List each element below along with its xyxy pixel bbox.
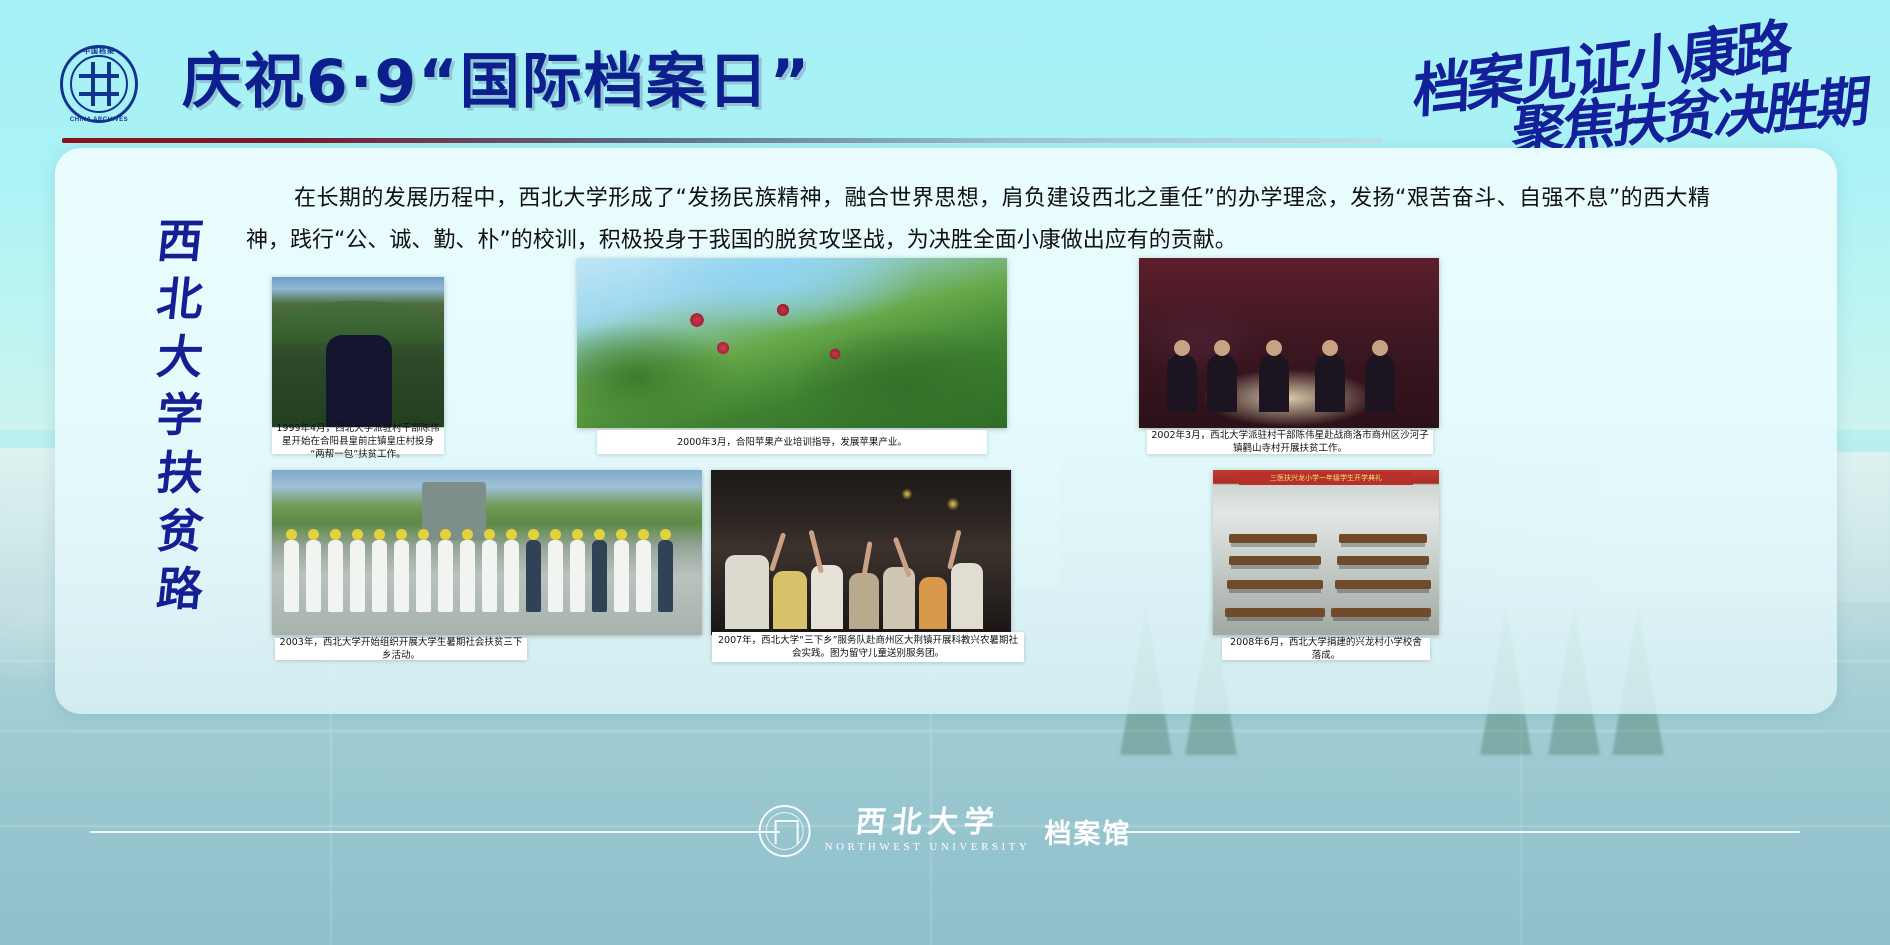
emblem-bottom-text: CHINA ARCHIVES [63, 117, 135, 123]
vtitle-char-4: 扶 [129, 444, 231, 502]
poster-canvas: 中国档案 CHINA ARCHIVES 庆祝6·9“国际档案日” 档案见证小康路… [0, 0, 1890, 945]
classroom-banner-text: 三医扶兴龙小学一年级学生开学典礼 [1239, 472, 1413, 485]
photo-2008-xinglong-school: 三医扶兴龙小学一年级学生开学典礼 [1213, 470, 1439, 635]
vertical-brush-title: 西 北 大 学 扶 贫 路 [132, 212, 228, 632]
emblem-glyph [79, 62, 119, 106]
university-seal-icon [759, 805, 811, 857]
page-title: 庆祝6·9“国际档案日” [182, 52, 811, 112]
poster-header: 中国档案 CHINA ARCHIVES 庆祝6·9“国际档案日” 档案见证小康路… [0, 0, 1890, 150]
calligraphy-slogan: 档案见证小康路 聚焦扶贫决胜期 [1402, 14, 1872, 144]
photo-caption-6: 2008年6月，西北大学捐建的兴龙村小学校舍落成。 [1222, 638, 1430, 660]
vtitle-char-2: 大 [129, 328, 231, 386]
intro-paragraph-text: 在长期的发展历程中，西北大学形成了“发扬民族精神，融合世界思想，肩负建设西北之重… [246, 178, 1710, 262]
intro-paragraph: 在长期的发展历程中，西北大学形成了“发扬民族精神，融合世界思想，肩负建设西北之重… [246, 178, 1710, 262]
photo-2007-sanxiaxiang [711, 470, 1011, 635]
photo-2002-shangluo-fupin [1139, 258, 1439, 428]
photo-2000-apple-industry [577, 258, 1007, 428]
photo-caption-4: 2003年，西北大学开始组织开展大学生暑期社会扶贫三下乡活动。 [275, 638, 527, 660]
university-name-cn: 西北大学 [854, 807, 1001, 839]
photo-caption-5: 2007年，西北大学“三下乡”服务队赴商州区大荆镇开展科教兴农暑期社会实践。图为… [712, 632, 1024, 662]
vtitle-char-3: 学 [129, 386, 231, 444]
footer-rule-left [90, 831, 780, 833]
vtitle-char-6: 路 [129, 560, 231, 618]
photo-2003-summer-practice [272, 470, 702, 635]
poster-footer: 西北大学 NORTHWEST UNIVERSITY 档案馆 [0, 795, 1890, 945]
photo-1999-village-cadre [272, 277, 444, 427]
archive-label: 档案馆 [1044, 812, 1131, 851]
footer-logo-group: 西北大学 NORTHWEST UNIVERSITY 档案馆 [759, 805, 1132, 857]
header-divider [62, 138, 1382, 143]
china-archives-emblem-icon: 中国档案 CHINA ARCHIVES [60, 45, 138, 123]
university-name-en: NORTHWEST UNIVERSITY [825, 839, 1031, 855]
students-row [280, 526, 694, 618]
vtitle-char-0: 西 [129, 212, 231, 270]
photo-caption-2: 2000年3月，合阳苹果产业培训指导，发展苹果产业。 [597, 430, 987, 454]
vtitle-char-5: 贫 [129, 502, 231, 560]
vtitle-char-1: 北 [129, 270, 231, 328]
university-name-block: 西北大学 NORTHWEST UNIVERSITY [825, 807, 1031, 855]
emblem-top-text: 中国档案 [63, 46, 135, 56]
footer-rule-right [1110, 831, 1800, 833]
photo-caption-3: 2002年3月，西北大学派驻村干部陈伟星赴战商洛市商州区沙河子镇鹳山寺村开展扶贫… [1147, 430, 1433, 454]
photo-caption-1: 1999年4月，西北大学派驻村干部陈伟星开始在合阳县皇前庄镇皇庄村投身“两帮一包… [272, 428, 444, 454]
